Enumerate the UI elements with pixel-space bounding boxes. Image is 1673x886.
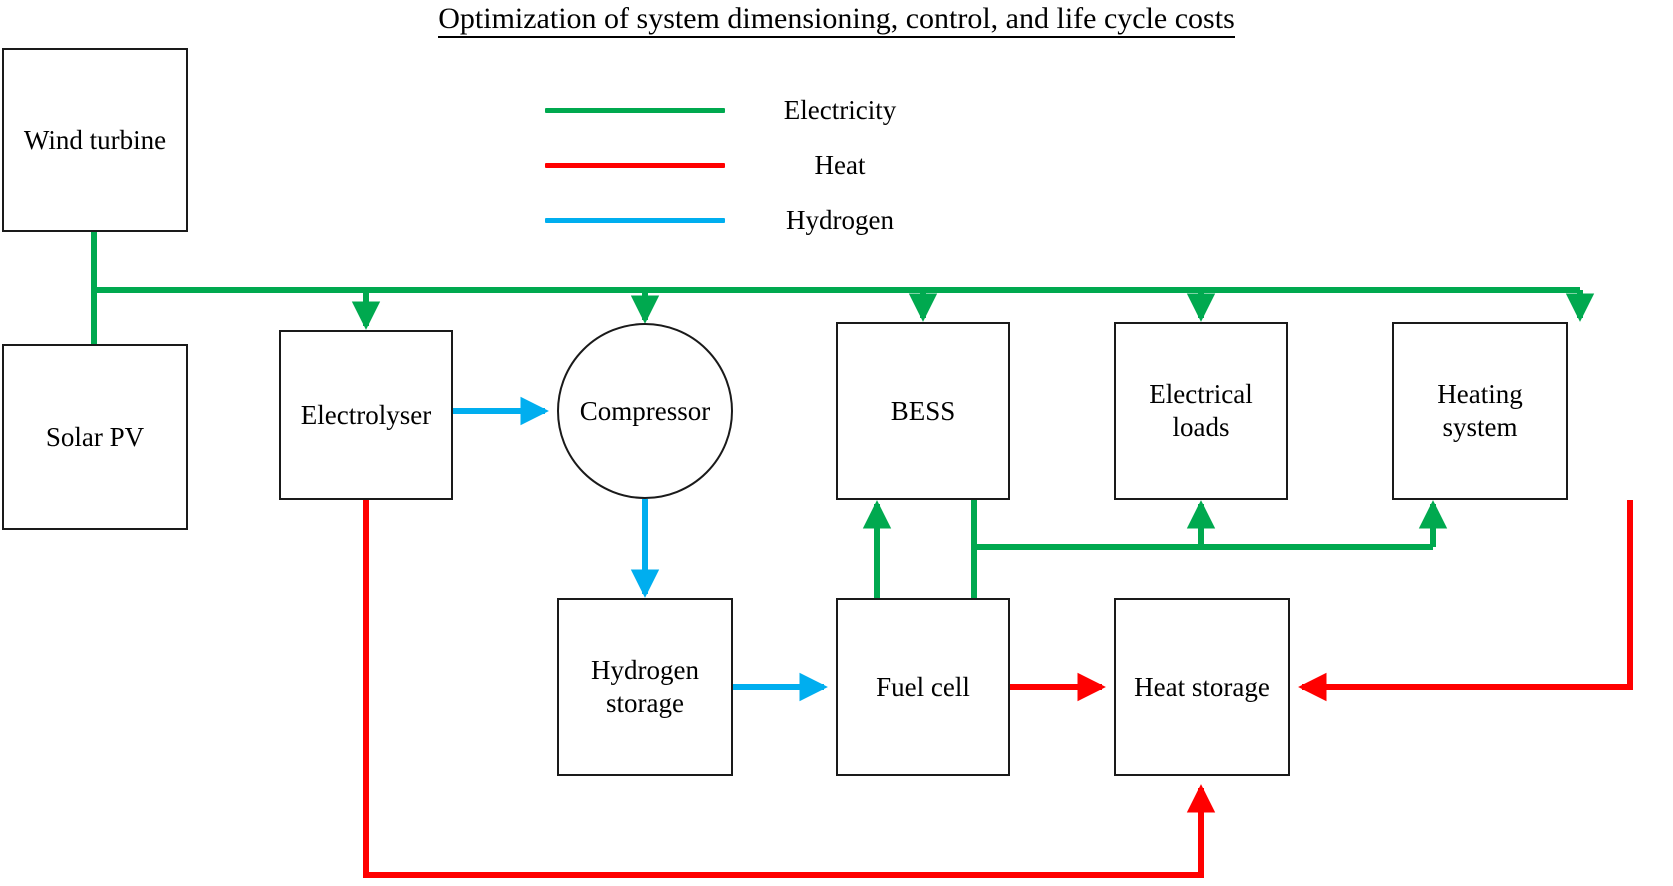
node-label-heat-storage: Heat storage — [1134, 671, 1270, 704]
node-label-fuel-cell: Fuel cell — [876, 671, 970, 704]
node-heating-system[interactable]: Heating system — [1392, 322, 1568, 500]
hydrogen-line-swatch — [545, 218, 725, 223]
node-wind-turbine[interactable]: Wind turbine — [2, 48, 188, 232]
legend-label-hydrogen: Hydrogen — [725, 205, 955, 235]
node-label-heating-system: Heating system — [1420, 378, 1540, 444]
node-label-wind-turbine: Wind turbine — [24, 124, 166, 157]
node-fuel-cell[interactable]: Fuel cell — [836, 598, 1010, 776]
legend-label-electricity: Electricity — [725, 95, 955, 125]
legend-item-electricity: Electricity — [545, 95, 955, 125]
node-label-electrolyser: Electrolyser — [301, 399, 431, 432]
heat-line-swatch — [545, 163, 725, 168]
node-label-compressor: Compressor — [580, 395, 711, 428]
node-heat-storage[interactable]: Heat storage — [1114, 598, 1290, 776]
electricity-line-swatch — [545, 108, 725, 113]
diagram-canvas: Optimization of system dimensioning, con… — [0, 0, 1673, 886]
node-label-bess: BESS — [891, 395, 956, 428]
node-compressor[interactable]: Compressor — [557, 323, 733, 499]
legend-label-heat: Heat — [725, 150, 955, 180]
node-solar-pv[interactable]: Solar PV — [2, 344, 188, 530]
node-label-solar-pv: Solar PV — [46, 421, 144, 454]
node-electrolyser[interactable]: Electrolyser — [279, 330, 453, 500]
node-hydrogen-storage[interactable]: Hydrogen storage — [557, 598, 733, 776]
node-label-hydrogen-storage: Hydrogen storage — [580, 654, 710, 720]
node-bess[interactable]: BESS — [836, 322, 1010, 500]
legend-item-heat: Heat — [545, 150, 955, 180]
legend-item-hydrogen: Hydrogen — [545, 205, 955, 235]
node-electrical-loads[interactable]: Electrical loads — [1114, 322, 1288, 500]
node-label-electrical-loads: Electrical loads — [1136, 378, 1266, 444]
wire-heating-system-to-heat-storage — [1302, 500, 1630, 687]
